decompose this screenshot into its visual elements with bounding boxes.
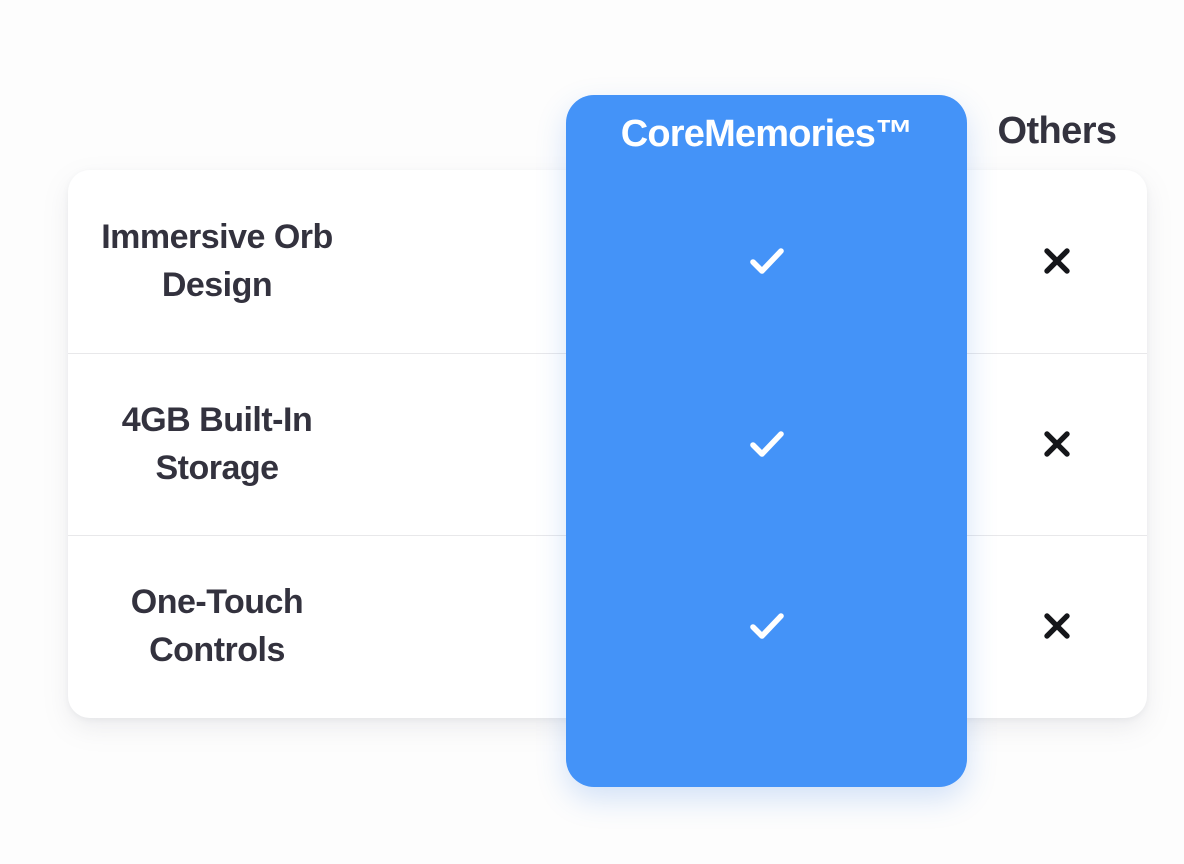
corememories-cell bbox=[566, 535, 967, 718]
others-cell bbox=[967, 535, 1147, 718]
check-icon bbox=[745, 243, 789, 279]
comparison-table: Others Immersive Orb Design 4GB Built-In… bbox=[0, 0, 1184, 864]
cross-icon bbox=[1040, 244, 1074, 278]
others-cell bbox=[967, 170, 1147, 353]
others-cell bbox=[967, 353, 1147, 536]
highlight-column-corememories: CoreMemories™ bbox=[566, 95, 967, 787]
highlight-cells bbox=[566, 170, 967, 718]
column-header-others: Others bbox=[967, 110, 1147, 153]
column-header-corememories: CoreMemories™ bbox=[566, 95, 967, 173]
cross-icon bbox=[1040, 427, 1074, 461]
check-icon bbox=[745, 426, 789, 462]
cross-icon bbox=[1040, 609, 1074, 643]
corememories-cell bbox=[566, 353, 967, 536]
check-icon bbox=[745, 608, 789, 644]
corememories-cell bbox=[566, 170, 967, 353]
